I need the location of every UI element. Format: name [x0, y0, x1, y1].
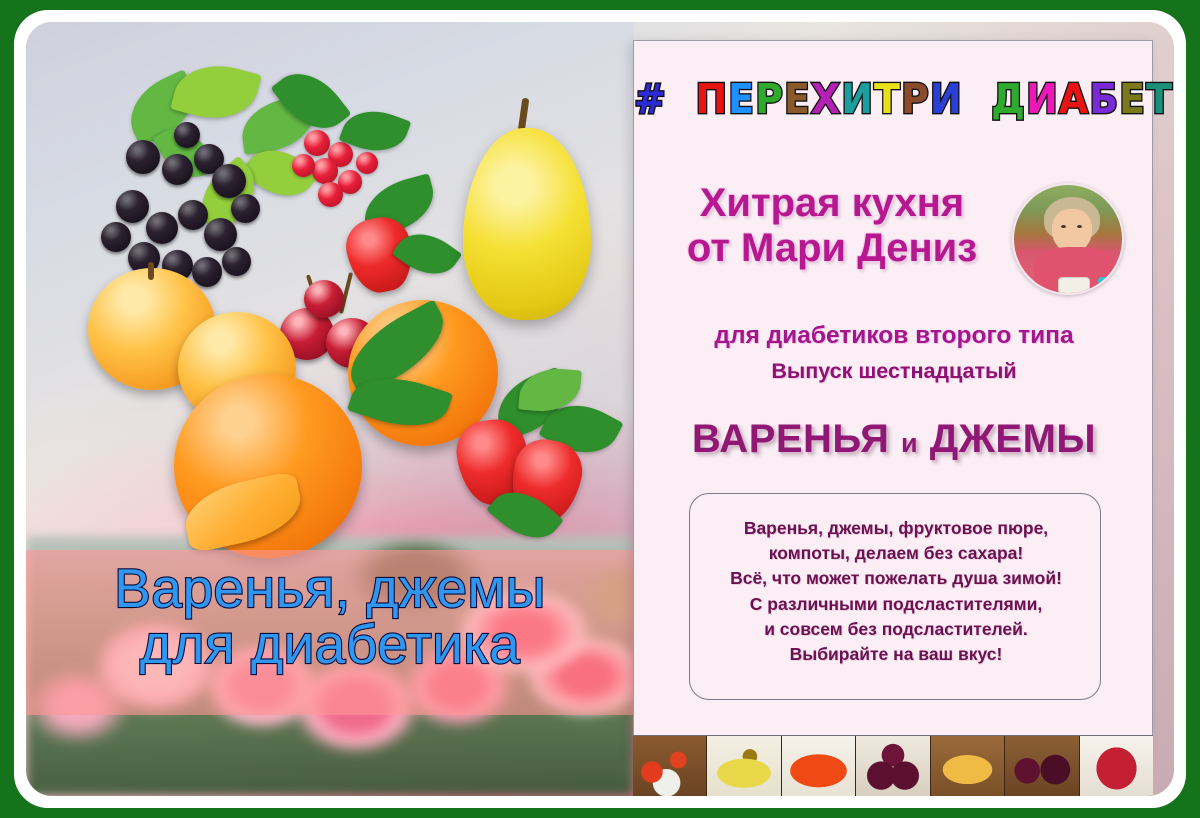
topic-second: ДЖЕМЫ — [930, 417, 1096, 461]
blackcurrant-berry — [192, 257, 222, 287]
thumbnail-dark-jam-bowls — [1005, 736, 1079, 796]
redcurrant-berry — [312, 158, 338, 184]
hashtag-letter: И — [1026, 75, 1059, 123]
hashtag-letter: Р — [901, 75, 930, 123]
description-line: Варенья, джемы, фруктовое пюре, — [690, 516, 1102, 541]
cherry-fruit — [304, 280, 344, 318]
poster-inner: Варенья, джемы для диабетика # ПЕРЕХИТРИ… — [26, 22, 1174, 796]
left-title-line-1: Варенья, джемы — [114, 557, 546, 619]
avatar-wristband — [1098, 277, 1114, 285]
thumbnail-red-jam-jar — [1080, 736, 1153, 796]
blackcurrant-berry — [162, 154, 193, 185]
topic-main: ВАРЕНЬЯ — [692, 417, 890, 461]
description-line: Всё, что может пожелать душа зимой! — [690, 566, 1102, 591]
hashtag-letter: И — [930, 75, 963, 123]
blackcurrant-berry — [146, 212, 178, 244]
hashtag-letter: Т — [874, 75, 901, 123]
description-line: С различными подсластителями, — [690, 592, 1102, 617]
hashtag-letter: Т — [1146, 75, 1173, 123]
kitchen-title: Хитрая кухня от Мари Дениз — [652, 181, 1012, 271]
recipe-photo-strip — [633, 735, 1153, 796]
description-line: и совсем без подсластителей. — [690, 617, 1102, 642]
redcurrant-berry — [318, 182, 343, 207]
hashtag-letter: И — [841, 75, 874, 123]
hashtag-letter: Р — [755, 75, 784, 123]
blackcurrant-berry — [212, 164, 246, 198]
description-line: Выбирайте на ваш вкус! — [690, 642, 1102, 667]
hashtag-letter: А — [1059, 75, 1089, 123]
avatar-eye-right — [1077, 225, 1082, 228]
redcurrant-berry — [292, 154, 315, 177]
blackcurrant-berry — [222, 247, 251, 276]
kitchen-title-line-2: от Мари Дениз — [652, 226, 1012, 271]
hashtag-letter: Д — [991, 75, 1026, 123]
hashtag-letter: П — [695, 75, 728, 123]
hashtag-letter: # — [634, 75, 667, 123]
hashtag-letter: Б — [1089, 75, 1119, 123]
redcurrant-berry — [356, 152, 378, 174]
poster-root: Варенья, джемы для диабетика # ПЕРЕХИТРИ… — [0, 0, 1200, 818]
description-text: Варенья, джемы, фруктовое пюре,компоты, … — [690, 516, 1102, 667]
description-line: компоты, делаем без сахара! — [690, 541, 1102, 566]
hashtag-perehitri-diabet: # ПЕРЕХИТРИ ДИАБЕТ — [634, 77, 1154, 121]
pear-fruit — [463, 128, 591, 320]
apricot-stem — [148, 262, 154, 280]
hashtag-letter — [963, 75, 991, 123]
subtitle-issue: Выпуск шестнадцатый — [634, 359, 1154, 384]
right-info-card: # ПЕРЕХИТРИ ДИАБЕТ Хитрая кухня от Мари … — [633, 40, 1153, 756]
kitchen-title-line-1: Хитрая кухня — [652, 181, 1012, 226]
blackcurrant-berry — [126, 140, 160, 174]
hashtag-letter: Е — [1119, 75, 1146, 123]
thumbnail-dark-berry-jars — [856, 736, 930, 796]
redcurrant-berry — [304, 130, 330, 156]
blackcurrant-berry — [116, 190, 149, 223]
blackcurrant-berry — [231, 194, 260, 223]
thumbnail-amber-fruit-bowl — [931, 736, 1005, 796]
author-avatar — [1012, 183, 1124, 295]
hashtag-letter — [667, 75, 695, 123]
topic-heading: ВАРЕНЬЯ и ДЖЕМЫ — [634, 417, 1154, 462]
hashtag-letter: Е — [728, 75, 755, 123]
hashtag-letter: Е — [784, 75, 811, 123]
thumbnail-orange-fruit-jam-plate — [782, 736, 856, 796]
thumbnail-yellow-puree-spoon — [707, 736, 781, 796]
description-box: Варенья, джемы, фруктовое пюре,компоты, … — [689, 493, 1101, 700]
avatar-eye-left — [1061, 225, 1066, 228]
thumbnail-jam-jars-red — [633, 736, 707, 796]
blackcurrant-berry — [178, 200, 208, 230]
blackcurrant-berry — [204, 218, 237, 251]
left-title-line-2: для диабетика — [26, 616, 634, 672]
blackcurrant-berry — [174, 122, 200, 148]
subtitle-audience: для диабетиков второго типа — [634, 322, 1154, 350]
blackcurrant-berry — [101, 222, 131, 252]
hashtag-letter: Х — [811, 75, 841, 123]
left-panel-title: Варенья, джемы для диабетика — [26, 560, 634, 672]
topic-conjunction: и — [901, 428, 918, 458]
left-fruit-collage-image: Варенья, джемы для диабетика — [26, 22, 634, 796]
avatar-cup — [1058, 277, 1090, 295]
